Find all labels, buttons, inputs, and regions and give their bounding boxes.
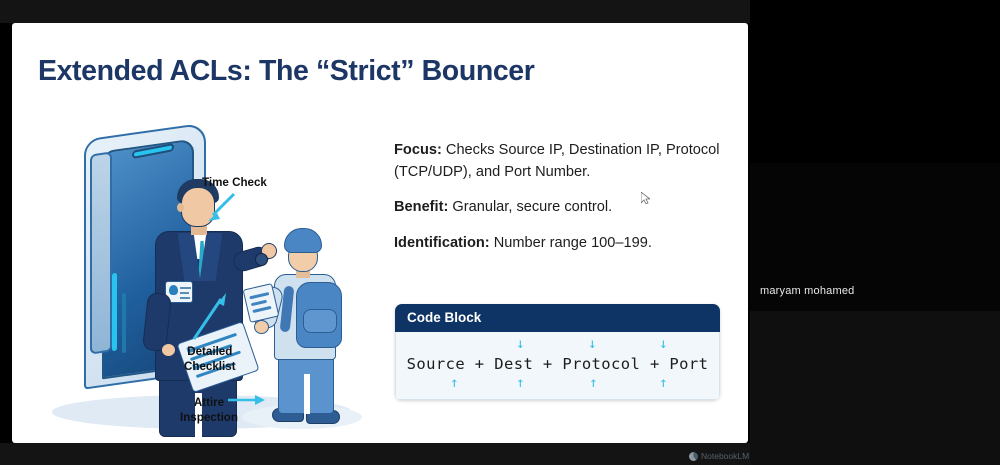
- page-title: Extended ACLs: The “Strict” Bouncer: [38, 55, 534, 88]
- up-arrow-3: ↑: [554, 375, 634, 392]
- code-block-card: Code Block ↓ ↓ ↓ Source + Dest + Protoco…: [395, 304, 720, 400]
- up-arrow-4: ↑: [634, 375, 694, 392]
- badge-photo: [169, 285, 178, 295]
- arrow-up-right-icon: [188, 291, 230, 343]
- visitor-hand: [254, 320, 269, 334]
- paragraph-identification: Identification: Number range 100–199.: [394, 233, 732, 255]
- code-block-line: Source + Dest + Protocol + Port: [406, 353, 709, 375]
- mouse-pointer-cursor: [641, 192, 650, 204]
- bouncer-ear: [177, 203, 184, 212]
- notebooklm-logo-icon: [689, 452, 698, 461]
- backpack-front-pocket: [303, 309, 337, 333]
- backpack-icon: [296, 282, 342, 348]
- label-time-check: Time Check: [202, 175, 267, 190]
- arrow-down-left-icon: [204, 191, 240, 223]
- paragraph-identification-text: Number range 100–199.: [490, 235, 652, 251]
- paragraph-focus-text: Checks Source IP, Destination IP, Protoc…: [394, 142, 720, 180]
- bouncer-left-hand: [161, 343, 176, 357]
- down-arrow-3: ↓: [634, 336, 694, 353]
- presentation-slide: Extended ACLs: The “Strict” Bouncer: [12, 23, 748, 443]
- screen: maryam mohamed Extended ACLs: The “Stric…: [0, 0, 1000, 465]
- right-upper-black-area: [750, 0, 1000, 163]
- scanner-light-strip: [112, 273, 117, 352]
- up-arrow-1: ↑: [422, 375, 488, 392]
- watermark-label: NotebookLM: [701, 451, 749, 461]
- slide-body-text: Focus: Checks Source IP, Destination IP,…: [394, 140, 732, 268]
- down-arrow-1: ↓: [490, 336, 552, 353]
- top-letterbox-bar: [0, 0, 750, 23]
- arrow-right-icon: [227, 393, 267, 407]
- down-arrow-2: ↓: [552, 336, 634, 353]
- label-attire-inspection-line1: Attire: [194, 396, 224, 409]
- ticket-line-1: [249, 292, 269, 299]
- label-detailed-checklist-line1: Detailed: [187, 345, 232, 358]
- paragraph-identification-label: Identification:: [394, 235, 490, 251]
- up-arrow-2: ↑: [488, 375, 554, 392]
- bottom-letterbox-bar: [0, 443, 750, 465]
- visitor-figure: [252, 228, 362, 428]
- scanner-light-strip-2: [122, 293, 126, 354]
- down-arrow-row: ↓ ↓ ↓: [406, 336, 709, 353]
- bouncer-illustration: [42, 123, 372, 435]
- participant-name: maryam mohamed: [760, 285, 855, 297]
- paragraph-focus: Focus: Checks Source IP, Destination IP,…: [394, 140, 732, 183]
- label-attire-inspection-line2: Inspection: [180, 411, 238, 424]
- ticket-line-2: [251, 300, 267, 306]
- visitor-hair: [284, 228, 322, 253]
- label-detailed-checklist: Detailed Checklist: [184, 344, 236, 374]
- visitor-leg-gap: [304, 374, 310, 414]
- paragraph-focus-label: Focus:: [394, 142, 442, 158]
- code-block-body: ↓ ↓ ↓ Source + Dest + Protocol + Port ↑ …: [395, 332, 720, 400]
- badge-line-1: [180, 287, 191, 289]
- ticket-line-3: [252, 306, 271, 313]
- scanner-side-panel: [90, 151, 112, 354]
- up-arrow-row: ↑ ↑ ↑ ↑: [406, 375, 709, 392]
- paragraph-benefit-text: Granular, secure control.: [448, 199, 612, 215]
- code-block-header: Code Block: [395, 304, 720, 332]
- paragraph-benefit-label: Benefit:: [394, 199, 448, 215]
- watermark: NotebookLM: [689, 451, 749, 461]
- label-detailed-checklist-line2: Checklist: [184, 360, 236, 373]
- paragraph-benefit: Benefit: Granular, secure control.: [394, 197, 732, 219]
